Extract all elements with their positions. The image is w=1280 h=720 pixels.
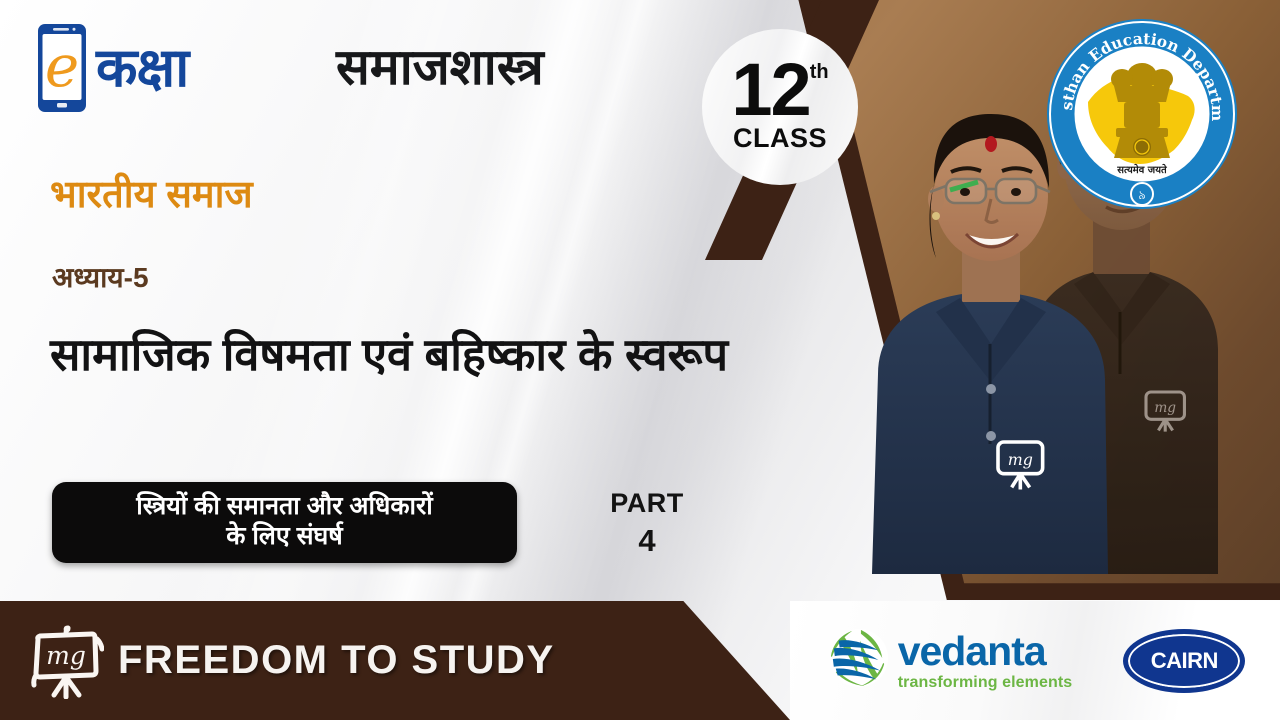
part-number: 4 <box>602 523 692 559</box>
footer-tagline: FREEDOM TO STUDY <box>118 638 555 683</box>
mg-board-icon: mg <box>28 623 104 699</box>
cairn-name: CAIRN <box>1151 648 1218 674</box>
sponsor-vedanta: vedanta transforming elements <box>828 627 1073 694</box>
class-ordinal-suffix: th <box>810 64 829 80</box>
sponsor-cairn: CAIRN <box>1126 632 1242 690</box>
topic-line-1: स्त्रियों की समानता और अधिकारों <box>66 492 503 522</box>
book-name: भारतीय समाज <box>50 176 253 214</box>
part-label: PART <box>602 488 692 519</box>
class-word-label: CLASS <box>733 123 827 154</box>
svg-text:৯: ৯ <box>1138 188 1146 202</box>
tablet-e-icon: e <box>38 24 86 112</box>
part-indicator: PART 4 <box>602 488 692 559</box>
brand-word-label: कक्षा <box>96 41 188 95</box>
topic-line-2: के लिए संघर्ष <box>66 522 503 552</box>
footer-bar: mg FREEDOM TO STUDY <box>0 601 790 720</box>
vedanta-name: vedanta <box>898 631 1073 672</box>
chapter-title: सामाजिक विषमता एवं बहिष्कार के स्वरूप <box>50 328 830 383</box>
rajasthan-education-department-emblem: सत्यमेव जयते Rajasthan Education Departm… <box>1044 16 1240 212</box>
svg-text:e: e <box>45 32 79 100</box>
class-number: 12 <box>731 60 809 121</box>
subject-title: समाजशास्त्र <box>336 42 544 92</box>
video-title-slide: mg <box>0 0 1280 720</box>
sponsor-strip: vedanta transforming elements CAIRN <box>790 601 1280 720</box>
emblem-motto: सत्यमेव जयते <box>1116 163 1168 176</box>
vedanta-tagline: transforming elements <box>898 675 1073 691</box>
mg-logo-text: mg <box>46 641 86 670</box>
chapter-label: अध्याय-5 <box>52 264 149 292</box>
topic-badge: स्त्रियों की समानता और अधिकारों के लिए स… <box>52 482 517 563</box>
vedanta-globe-icon <box>828 627 890 694</box>
class-badge: 12 th CLASS <box>702 29 858 185</box>
ekaksha-brand-logo: e कक्षा <box>38 24 188 112</box>
svg-text:mg: mg <box>1008 450 1033 469</box>
svg-text:mg: mg <box>1154 400 1176 416</box>
